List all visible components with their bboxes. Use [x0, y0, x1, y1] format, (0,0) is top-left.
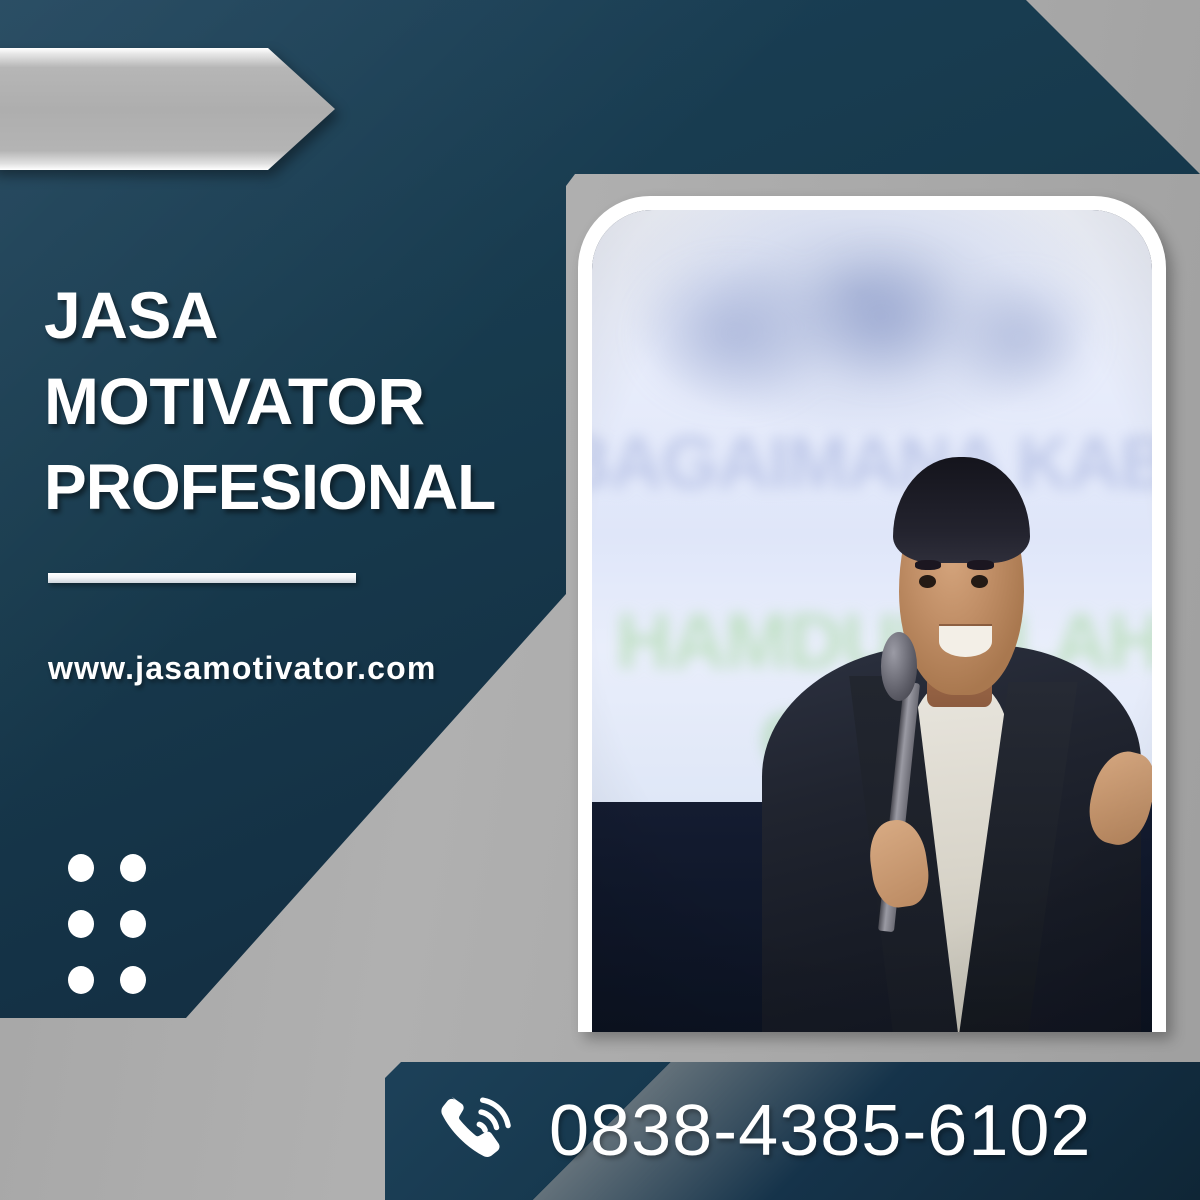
- dot-grid-decoration: [68, 854, 146, 1022]
- dot: [68, 910, 94, 938]
- headline-line-3: PROFESIONAL: [44, 444, 564, 530]
- speaker-photo-card: BAGAIMANA KABAR HAMDULILLAH GAR, S: [578, 196, 1166, 1032]
- speaker-photo: BAGAIMANA KABAR HAMDULILLAH GAR, S: [592, 210, 1152, 1032]
- eyebrow-right: [967, 560, 993, 569]
- divider-rule: [48, 573, 356, 583]
- website-url[interactable]: www.jasamotivator.com: [48, 650, 437, 687]
- headline-line-1: JASA: [44, 272, 564, 358]
- phone-ringing-icon: [437, 1092, 515, 1170]
- projection-blur-top: [626, 243, 1119, 407]
- dot: [120, 910, 146, 938]
- hair: [893, 457, 1030, 563]
- page-title: JASA MOTIVATOR PROFESIONAL: [44, 272, 564, 530]
- poster-canvas: JASA MOTIVATOR PROFESIONAL www.jasamotiv…: [0, 0, 1200, 1200]
- dot: [120, 854, 146, 882]
- eyebrow-left: [915, 560, 941, 569]
- contact-bar: 0838-4385-6102: [385, 1062, 1200, 1200]
- arrow-banner-shape: [0, 48, 335, 170]
- dot: [68, 966, 94, 994]
- contact-bar-content: 0838-4385-6102: [385, 1090, 1091, 1172]
- dot: [120, 966, 146, 994]
- arrow-banner: [0, 48, 335, 170]
- phone-number[interactable]: 0838-4385-6102: [549, 1090, 1091, 1172]
- speaker-figure: [738, 407, 1141, 1032]
- dot: [68, 854, 94, 882]
- smile: [939, 626, 991, 657]
- headline-line-2: MOTIVATOR: [44, 358, 564, 444]
